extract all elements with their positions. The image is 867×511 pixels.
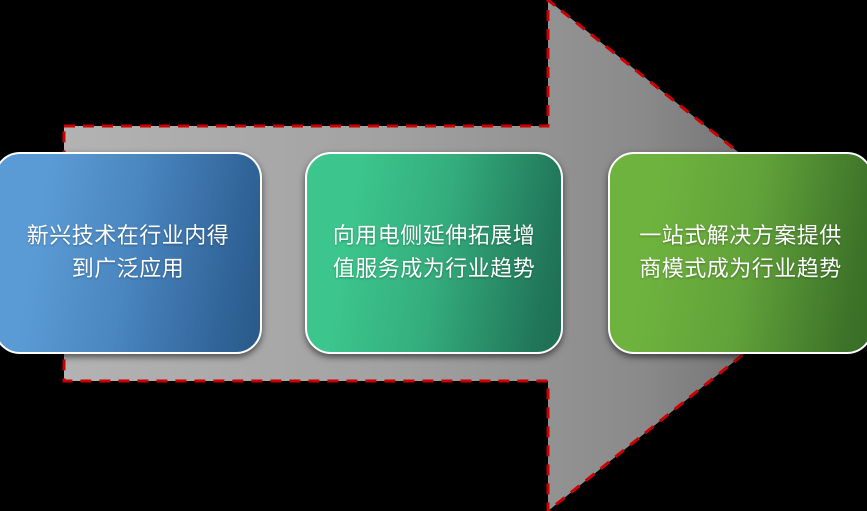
process-step-1[interactable]: 新兴技术在行业内得 到广泛应用 — [0, 152, 262, 354]
slide-canvas: 新兴技术在行业内得 到广泛应用 向用电侧延伸拓展增 值服务成为行业趋势 一站式解… — [0, 0, 867, 511]
process-step-2[interactable]: 向用电侧延伸拓展增 值服务成为行业趋势 — [305, 152, 563, 354]
process-step-3[interactable]: 一站式解决方案提供 商模式成为行业趋势 — [608, 152, 867, 354]
process-step-2-label: 向用电侧延伸拓展增 值服务成为行业趋势 — [319, 220, 550, 286]
process-step-1-label: 新兴技术在行业内得 到广泛应用 — [13, 220, 244, 286]
process-step-3-label: 一站式解决方案提供 商模式成为行业趋势 — [625, 220, 856, 286]
